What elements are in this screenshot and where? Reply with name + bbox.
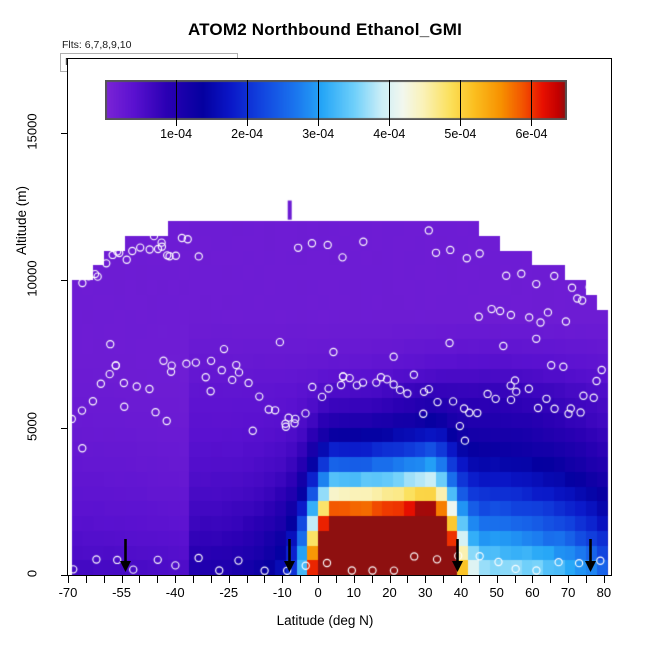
page-title: ATOM2 Northbound Ethanol_GMI	[0, 20, 650, 40]
x-axis-tick-label: 70	[561, 585, 575, 600]
x-axis-tick	[264, 576, 265, 583]
x-axis-tick-label: -55	[112, 585, 131, 600]
x-axis-tick	[211, 576, 212, 583]
y-axis-tick-label: 5000	[25, 402, 40, 450]
x-axis-tick	[372, 576, 373, 583]
x-axis-tick	[550, 576, 551, 583]
x-axis-tick	[318, 576, 319, 583]
y-axis-tick	[61, 280, 68, 281]
x-axis-tick	[515, 576, 516, 583]
y-axis-tick-label: 10000	[25, 255, 40, 303]
x-axis-tick-label: 40	[454, 585, 468, 600]
x-axis-tick	[175, 576, 176, 583]
x-axis-tick	[497, 576, 498, 583]
x-axis-tick	[604, 576, 605, 583]
x-axis-tick-label: 60	[525, 585, 539, 600]
x-axis-tick	[229, 576, 230, 583]
x-axis-tick	[300, 576, 301, 583]
x-axis-tick-label: 80	[597, 585, 611, 600]
x-axis-tick	[193, 576, 194, 583]
x-axis-tick	[336, 576, 337, 583]
x-axis-tick-label: 20	[382, 585, 396, 600]
x-axis-tick-label: -10	[273, 585, 292, 600]
x-axis-tick-label: -70	[59, 585, 78, 600]
x-axis-tick	[443, 576, 444, 583]
y-axis-tick	[61, 133, 68, 134]
x-axis-tick	[568, 576, 569, 583]
x-axis-tick	[157, 576, 158, 583]
flights-annotation: Flts: 6,7,8,9,10	[62, 39, 131, 51]
x-axis-tick	[86, 576, 87, 583]
y-axis-tick	[61, 428, 68, 429]
y-axis-tick-label: 0	[25, 550, 40, 598]
y-axis-label: Altitude (m)	[14, 186, 29, 255]
x-axis-tick	[532, 576, 533, 583]
x-axis-tick	[68, 576, 69, 583]
x-axis-tick	[104, 576, 105, 583]
x-axis-tick-label: 50	[489, 585, 503, 600]
x-axis-tick	[479, 576, 480, 583]
x-axis-tick-label: 10	[347, 585, 361, 600]
x-axis-label: Latitude (deg N)	[0, 613, 650, 628]
x-axis-tick-label: 0	[314, 585, 321, 600]
y-axis-tick	[61, 575, 68, 576]
x-axis-tick	[354, 576, 355, 583]
x-axis-tick	[139, 576, 140, 583]
x-axis-tick	[390, 576, 391, 583]
flight-profile-arrow	[451, 539, 464, 578]
flight-profile-arrow	[283, 539, 296, 578]
x-axis-tick	[425, 576, 426, 583]
flight-profile-arrow	[119, 539, 132, 578]
x-axis-tick-label: -40	[166, 585, 185, 600]
flight-profile-arrow	[584, 539, 597, 578]
figure-root: ATOM2 Northbound Ethanol_GMI Flts: 6,7,8…	[0, 0, 650, 650]
flight-profile-markers	[68, 59, 611, 575]
x-axis-tick-label: -25	[219, 585, 238, 600]
x-axis-tick-label: 30	[418, 585, 432, 600]
x-axis-tick	[247, 576, 248, 583]
y-axis-tick-label: 15000	[25, 107, 40, 155]
x-axis-tick	[407, 576, 408, 583]
